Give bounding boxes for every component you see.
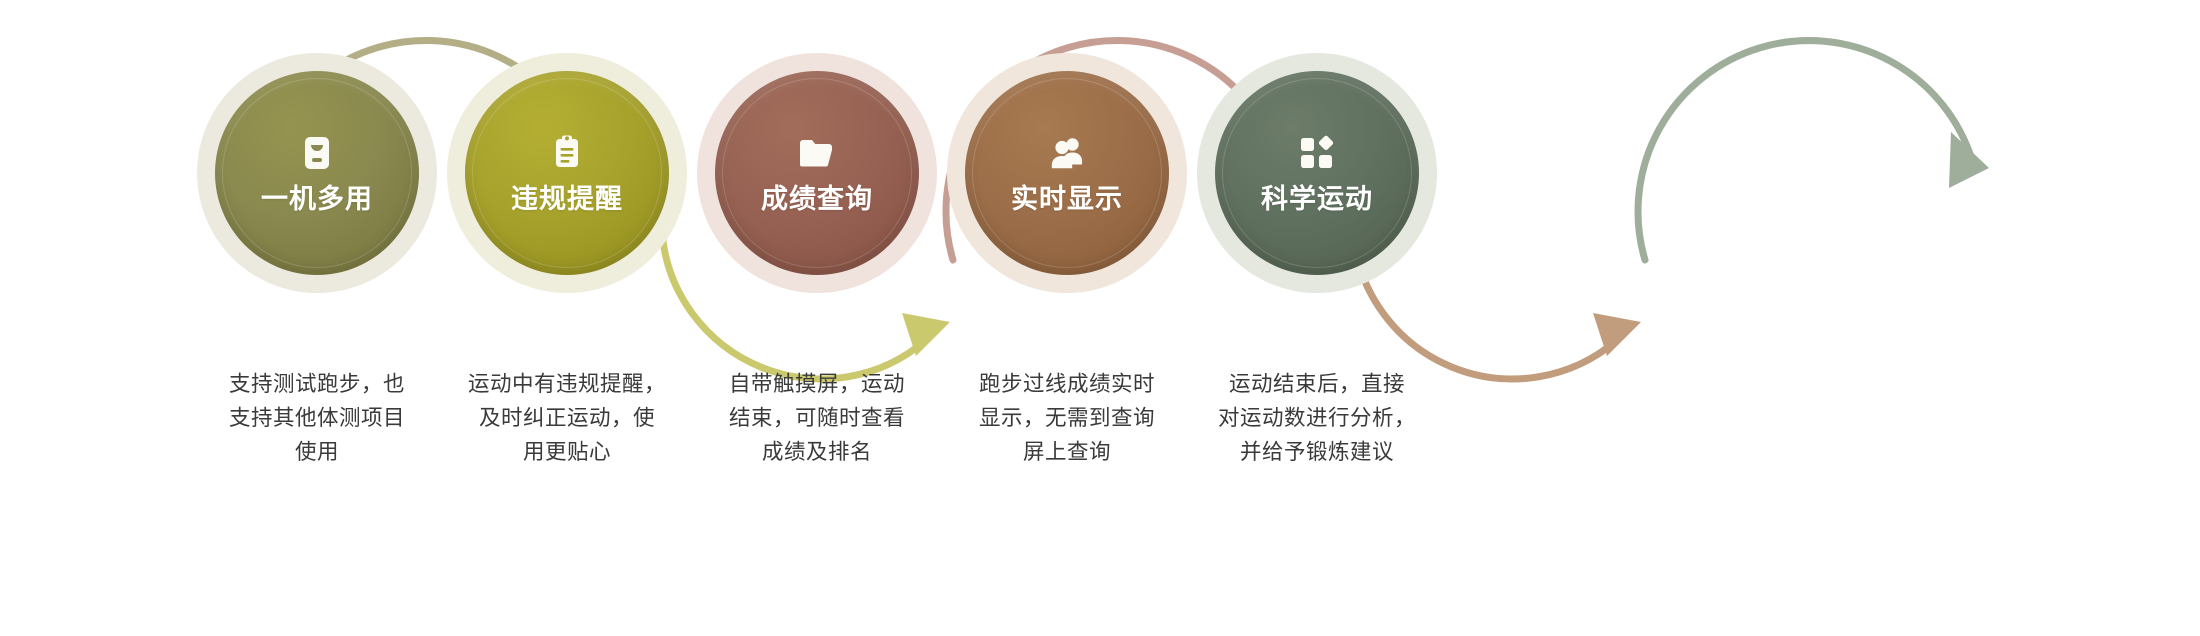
- step-label-5: 科学运动: [1261, 186, 1373, 213]
- step-halo-4: 实时显示: [947, 53, 1187, 293]
- step-halo-1: 一机多用: [197, 53, 437, 293]
- step-halo-5: 科学运动: [1197, 53, 1437, 293]
- two-users-icon: [1047, 133, 1087, 173]
- folder-open-icon: [797, 133, 837, 173]
- steps-row: 一机多用 支持测试跑步，也 支持其他体测项目 使用: [0, 0, 2200, 636]
- step-label-4: 实时显示: [1011, 186, 1123, 213]
- step-card-5[interactable]: 科学运动 运动结束后，直接 对运动数进行分析， 并给予锻炼建议: [1167, 53, 1467, 469]
- bag-smile-icon: [297, 133, 337, 173]
- step-disc-5[interactable]: 科学运动: [1215, 71, 1419, 275]
- step-label-3: 成绩查询: [761, 186, 873, 213]
- clipboard-lines-icon: [547, 133, 587, 173]
- step-label-2: 违规提醒: [511, 186, 623, 213]
- step-disc-2[interactable]: 违规提醒: [465, 71, 669, 275]
- step-label-1: 一机多用: [261, 186, 373, 213]
- step-disc-3[interactable]: 成绩查询: [715, 71, 919, 275]
- apps-grid-icon: [1297, 133, 1337, 173]
- step-caption-5: 运动结束后，直接 对运动数进行分析， 并给予锻炼建议: [1167, 367, 1467, 469]
- infographic-stage: 一机多用 支持测试跑步，也 支持其他体测项目 使用: [0, 0, 2200, 636]
- step-disc-1[interactable]: 一机多用: [215, 71, 419, 275]
- step-halo-2: 违规提醒: [447, 53, 687, 293]
- step-halo-3: 成绩查询: [697, 53, 937, 293]
- step-disc-4[interactable]: 实时显示: [965, 71, 1169, 275]
